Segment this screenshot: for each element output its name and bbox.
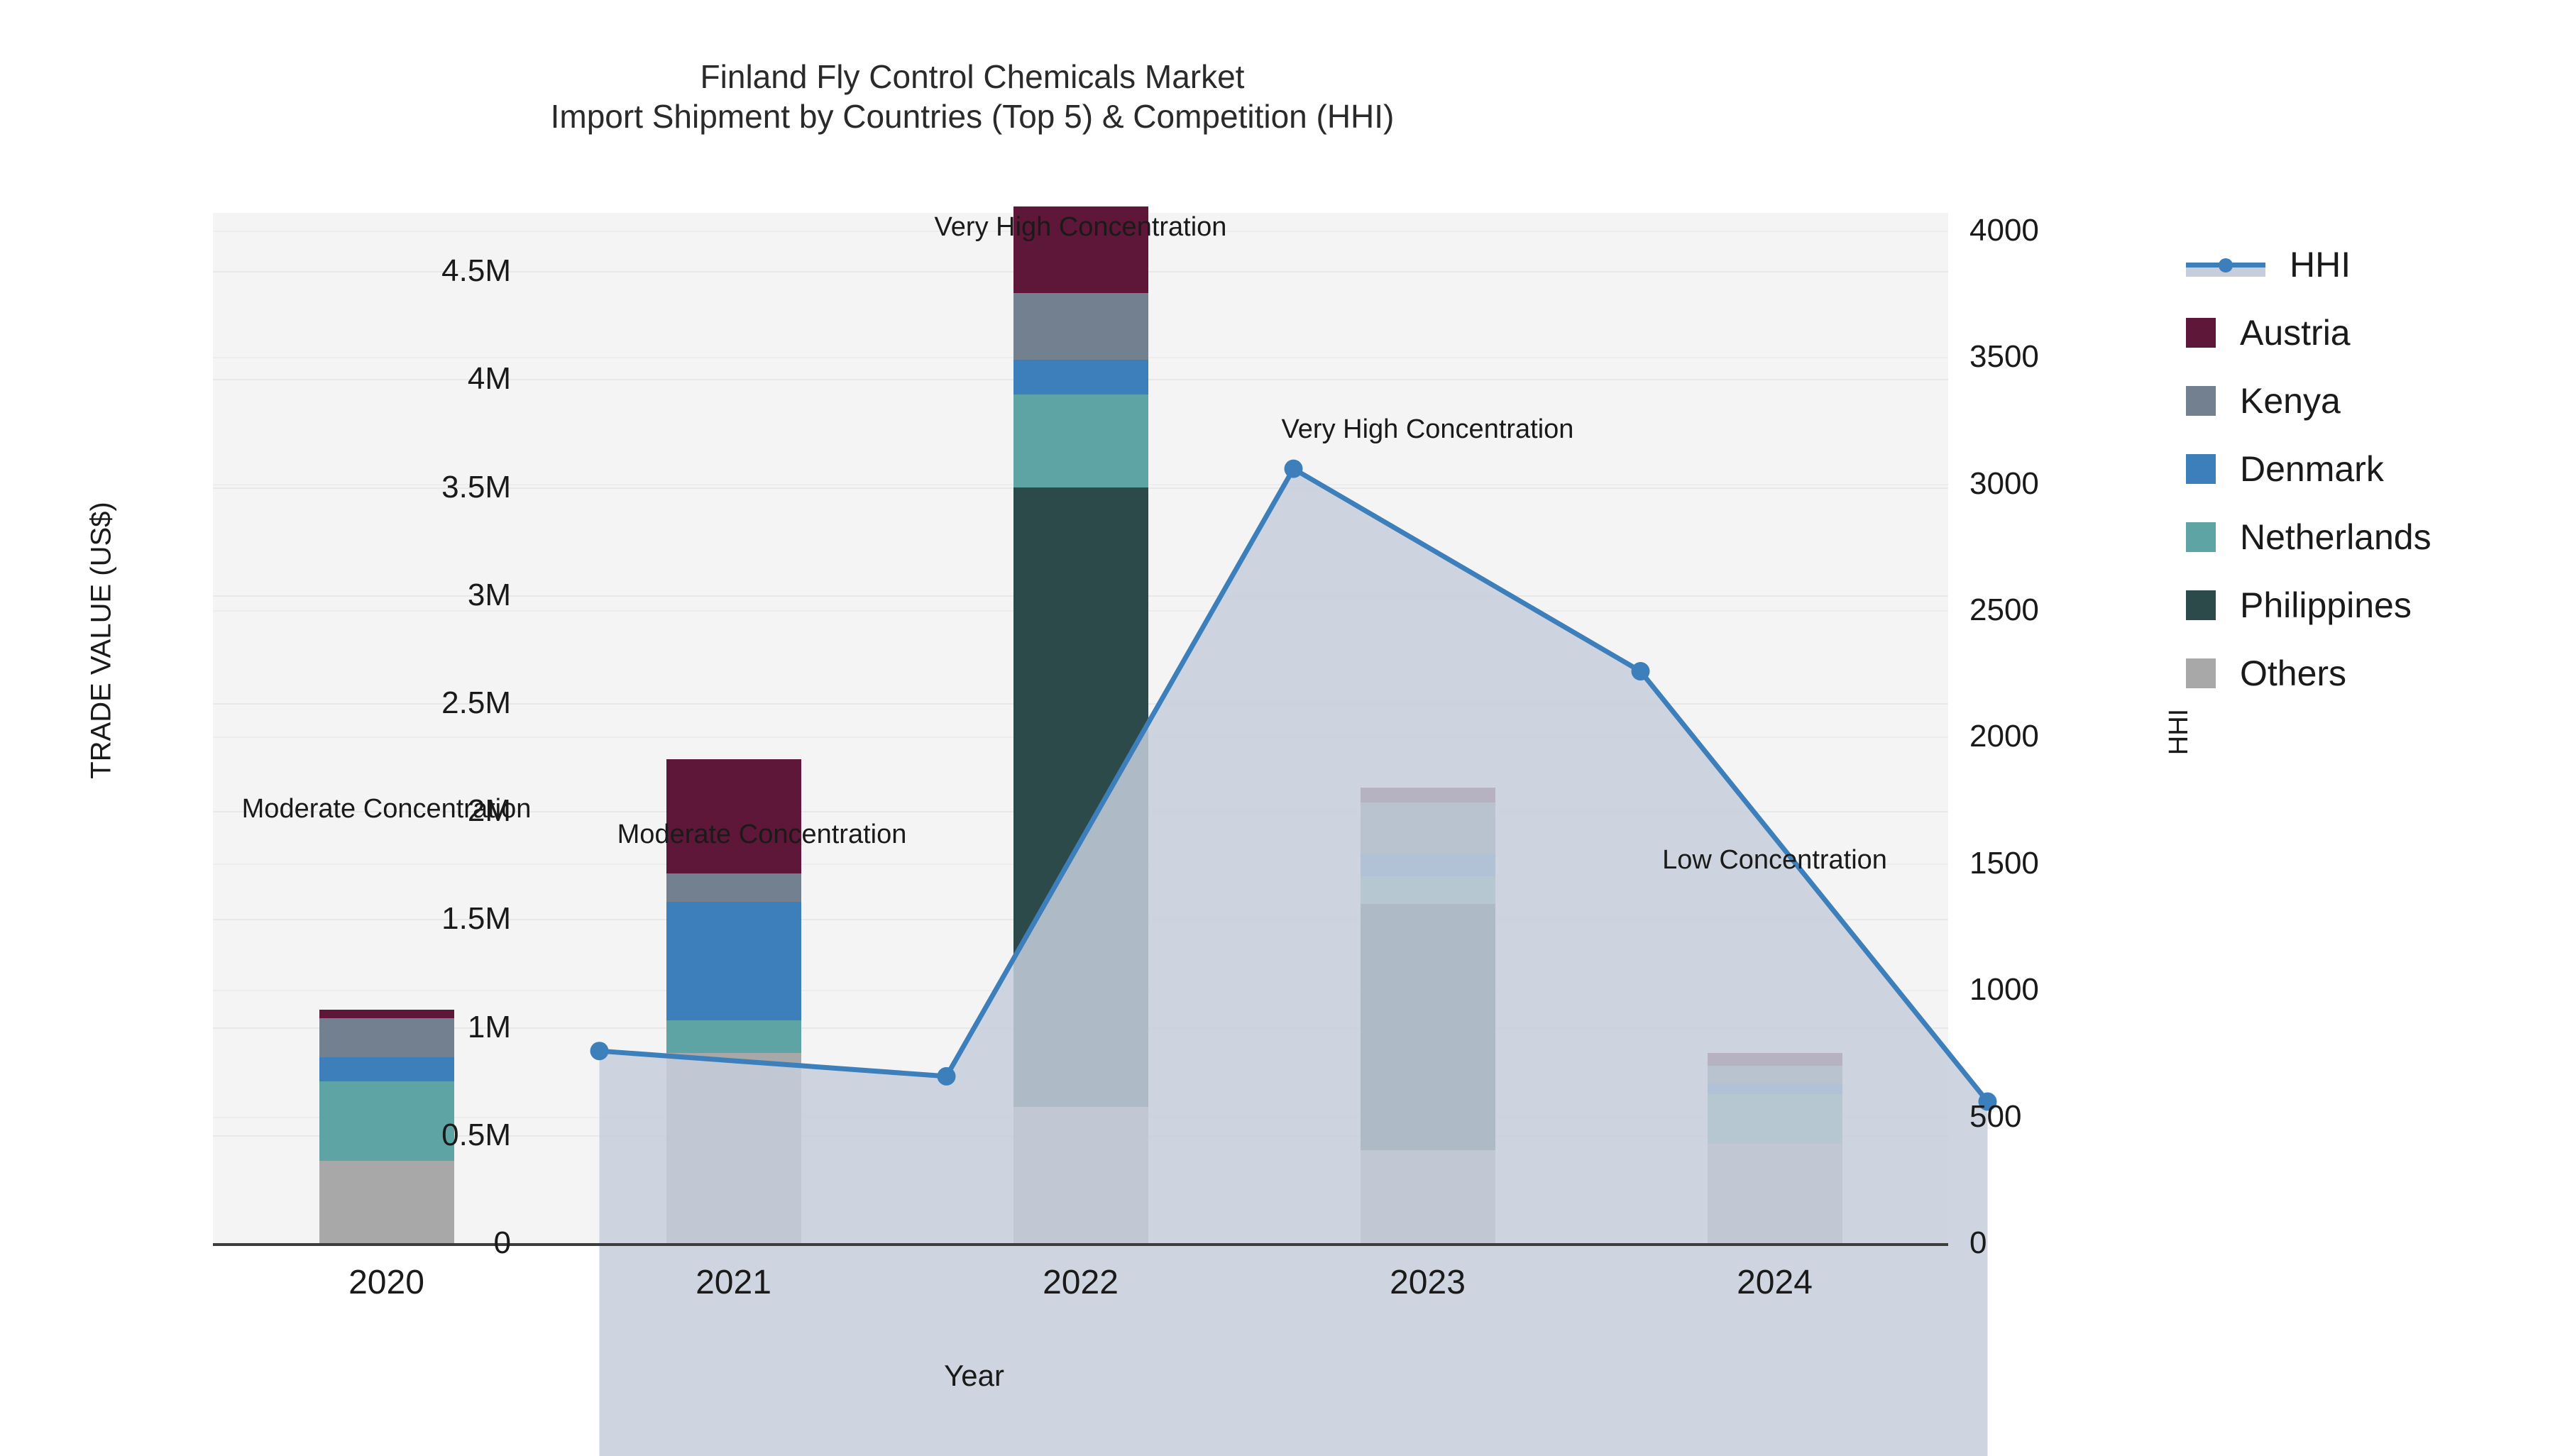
y-tick-left: 4M	[468, 361, 511, 397]
legend-item-hhi[interactable]: HHI	[2186, 231, 2432, 299]
y-tick-right: 2500	[1969, 592, 2039, 628]
chart-title-line-1: Finland Fly Control Chemicals Market	[0, 57, 1945, 96]
legend-label: Others	[2240, 653, 2346, 694]
x-tick-2024: 2024	[1737, 1263, 1813, 1302]
chart-title-line-2: Import Shipment by Countries (Top 5) & C…	[0, 96, 1945, 136]
y-tick-right: 4000	[1969, 213, 2039, 248]
legend-item-denmark[interactable]: Denmark	[2186, 435, 2432, 503]
x-tick-2022: 2022	[1043, 1263, 1119, 1302]
legend-item-others[interactable]: Others	[2186, 639, 2432, 707]
y-tick-left: 3.5M	[441, 470, 511, 505]
x-axis-title: Year	[0, 1359, 1948, 1393]
x-tick-2021: 2021	[696, 1263, 771, 1302]
legend-swatch	[2186, 590, 2216, 620]
legend-item-philippines[interactable]: Philippines	[2186, 571, 2432, 639]
legend-label: HHI	[2290, 244, 2351, 285]
y-tick-right: 3500	[1969, 339, 2039, 375]
hhi-annotation: Moderate Concentration	[242, 794, 532, 824]
hhi-annotation: Moderate Concentration	[617, 820, 907, 850]
x-axis-line	[213, 1243, 1948, 1246]
y-tick-right: 500	[1969, 1099, 2021, 1135]
chart-legend: HHIAustriaKenyaDenmarkNetherlandsPhilipp…	[2186, 231, 2432, 707]
legend-label: Philippines	[2240, 585, 2412, 626]
y-tick-left: 2.5M	[441, 685, 511, 721]
hhi-annotation: Very High Concentration	[935, 212, 1227, 243]
chart-title: Finland Fly Control Chemicals Market Imp…	[0, 57, 1945, 136]
hhi-marker[interactable]	[590, 1042, 609, 1060]
legend-label: Kenya	[2240, 380, 2341, 421]
legend-swatch	[2186, 318, 2216, 348]
legend-item-austria[interactable]: Austria	[2186, 299, 2432, 367]
y-tick-right: 2000	[1969, 719, 2039, 754]
y-tick-left: 0	[494, 1225, 511, 1261]
y-axis-left-title: TRADE VALUE (US$)	[86, 502, 118, 778]
hhi-annotation: Low Concentration	[1662, 845, 1887, 876]
hhi-marker[interactable]	[938, 1067, 956, 1086]
hhi-marker[interactable]	[1632, 662, 1650, 680]
y-axis-right-title: HHI	[2164, 709, 2194, 755]
legend-item-kenya[interactable]: Kenya	[2186, 367, 2432, 435]
bar-segment-denmark[interactable]	[1013, 360, 1148, 395]
y-tick-right: 1500	[1969, 846, 2039, 881]
y-tick-left: 0.5M	[441, 1118, 511, 1153]
legend-label: Netherlands	[2240, 517, 2432, 558]
hhi-series	[426, 426, 2161, 1456]
legend-label: Austria	[2240, 312, 2351, 353]
legend-swatch	[2186, 658, 2216, 688]
legend-item-netherlands[interactable]: Netherlands	[2186, 503, 2432, 571]
y-tick-left: 4.5M	[441, 253, 511, 289]
y-tick-right: 0	[1969, 1225, 1987, 1261]
legend-swatch	[2186, 386, 2216, 416]
hhi-area-fill	[600, 469, 1988, 1456]
y-tick-right: 1000	[1969, 972, 2039, 1008]
legend-swatch	[2186, 454, 2216, 484]
chart-root: Finland Fly Control Chemicals Market Imp…	[0, 0, 2555, 1437]
legend-label: Denmark	[2240, 448, 2384, 490]
x-tick-2020: 2020	[348, 1263, 424, 1302]
x-tick-2023: 2023	[1390, 1263, 1466, 1302]
y-tick-left: 3M	[468, 578, 511, 613]
y-tick-left: 1.5M	[441, 901, 511, 937]
legend-line-marker	[2186, 250, 2265, 280]
legend-swatch	[2186, 522, 2216, 552]
hhi-marker[interactable]	[1285, 460, 1303, 478]
bar-segment-kenya[interactable]	[1013, 293, 1148, 360]
y-tick-left: 1M	[468, 1010, 511, 1045]
y-tick-right: 3000	[1969, 466, 2039, 502]
hhi-annotation: Very High Concentration	[1282, 414, 1574, 445]
